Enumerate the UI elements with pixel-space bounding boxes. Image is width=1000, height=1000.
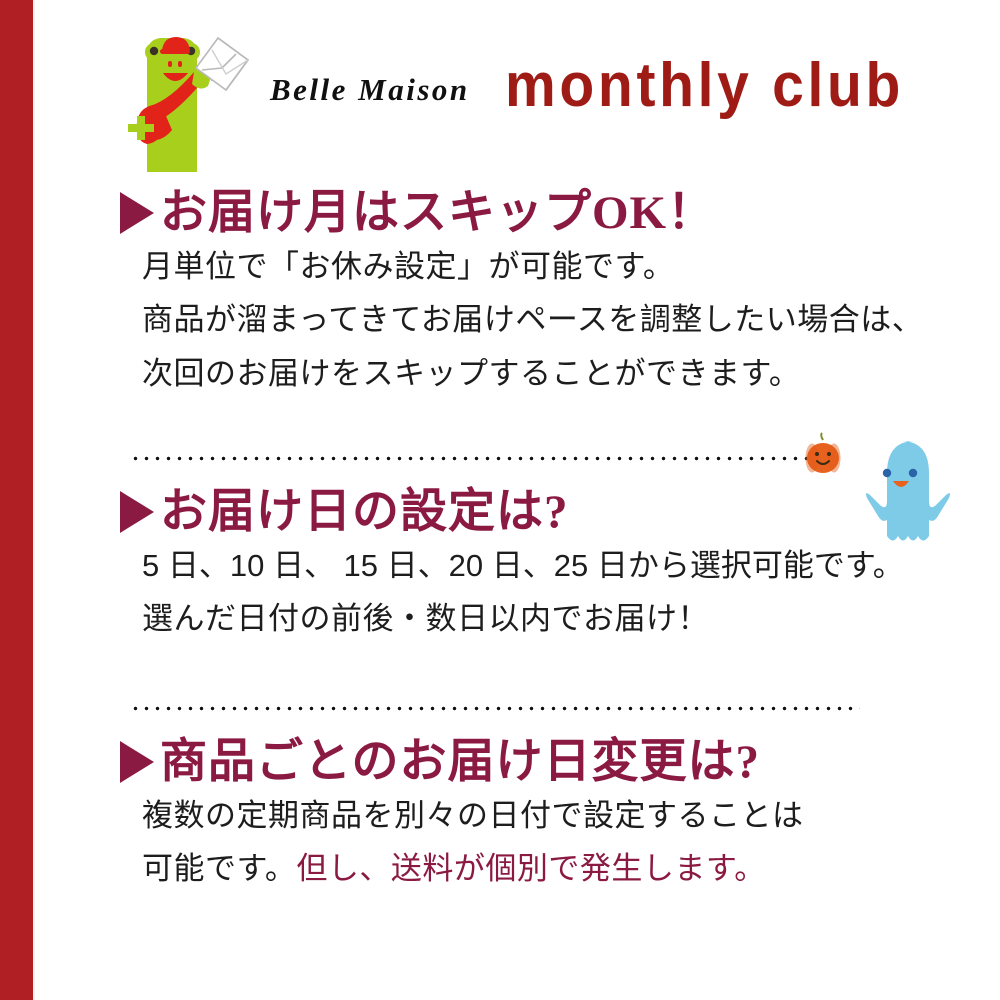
section-skip-month: お届け月はスキップOK！ 月単位で「お休み設定」が可能です。 商品が溜まってきて…	[120, 186, 990, 400]
section-heading-text: お届け日の設定は?	[160, 485, 569, 539]
body-line-mixed: 可能です。但し、送料が個別で発生します。	[142, 842, 990, 895]
section-heading: お届け日の設定は?	[120, 485, 990, 539]
section-heading-text: お届け月はスキップOK！	[160, 186, 715, 240]
body-line: 商品が溜まってきてお届けペースを調整したい場合は、	[142, 293, 990, 346]
left-accent-hairline	[33, 0, 35, 1000]
body-line-plain: 可能です。	[142, 851, 296, 886]
section-heading: お届け月はスキップOK！	[120, 186, 990, 240]
brand-title: monthly club	[505, 50, 904, 121]
left-accent-bar	[0, 0, 33, 1000]
dotted-divider	[130, 706, 860, 711]
triangle-bullet-icon	[120, 491, 154, 533]
section-per-item-date-change: 商品ごとのお届け日変更は? 複数の定期商品を別々の日付で設定することは 可能です…	[120, 735, 990, 896]
section-delivery-date-setting: お届け日の設定は? 5 日、10 日、 15 日、20 日、25 日から選択可能…	[120, 485, 990, 646]
body-line: 複数の定期商品を別々の日付で設定することは	[142, 789, 990, 842]
body-line: 月単位で「お休み設定」が可能です。	[142, 240, 990, 293]
body-line-accent: 但し、送料が個別で発生します。	[296, 851, 765, 886]
section-heading-text: 商品ごとのお届け日変更は?	[160, 735, 760, 789]
page-header: Belle Maison monthly club	[120, 24, 950, 174]
brand-script-text: Belle Maison	[270, 72, 470, 108]
body-line: 選んだ日付の前後・数日以内でお届け！	[142, 592, 990, 645]
body-line: 次回のお届けをスキップすることができます。	[142, 347, 990, 400]
postman-frog-mascot-icon	[120, 26, 250, 174]
body-line: 5 日、10 日、 15 日、20 日、25 日から選択可能です。	[142, 539, 990, 592]
triangle-bullet-icon	[120, 192, 154, 234]
page-root: Belle Maison monthly club お届け月はスキップOK！ 月…	[0, 0, 1000, 1000]
section-heading: 商品ごとのお届け日変更は?	[120, 735, 990, 789]
dotted-divider	[130, 456, 820, 461]
triangle-bullet-icon	[120, 741, 154, 783]
pumpkin-icon	[800, 432, 846, 478]
